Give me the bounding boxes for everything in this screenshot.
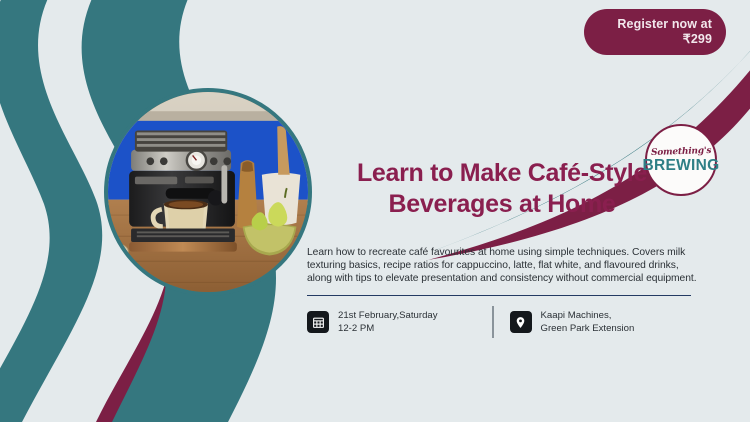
logo-wordmark: BREWING — [643, 158, 720, 174]
date-info-block: 21st February,Saturday 12-2 PM — [307, 309, 492, 336]
date-text: 21st February,Saturday 12-2 PM — [338, 309, 438, 336]
venue-line-2: Green Park Extension — [541, 322, 635, 336]
teal-ribbon-outer — [0, 0, 102, 422]
map-pin-icon — [510, 311, 532, 333]
date-line-1: 21st February,Saturday — [338, 309, 438, 323]
info-separator — [492, 306, 494, 338]
brand-logo: Something's BREWING — [645, 124, 717, 196]
workshop-description: Learn how to recreate café favourites at… — [307, 246, 697, 286]
register-price: ₹299 — [683, 32, 712, 47]
venue-line-1: Kaapi Machines, — [541, 309, 635, 323]
divider — [307, 295, 691, 297]
workshop-photo — [104, 88, 312, 296]
promo-banner: Register now at ₹299 Something's BREWING… — [0, 0, 750, 422]
title-line-1: Learn to Make Café-Style — [357, 159, 647, 187]
calendar-icon — [307, 311, 329, 333]
content-column: Learn to Make Café-Style Beverages at Ho… — [307, 158, 697, 338]
register-line-1: Register now at — [617, 17, 712, 32]
title-line-2: Beverages at Home — [389, 190, 616, 218]
logo-script-text: Something's — [651, 145, 712, 157]
info-row: 21st February,Saturday 12-2 PM Kaapi Mac… — [307, 306, 697, 338]
venue-info-block: Kaapi Machines, Green Park Extension — [510, 309, 635, 336]
page-title: Learn to Make Café-Style Beverages at Ho… — [307, 158, 697, 220]
date-line-2: 12-2 PM — [338, 322, 438, 336]
register-now-button[interactable]: Register now at ₹299 — [584, 9, 726, 55]
espresso-machine-photo — [108, 92, 308, 292]
venue-text: Kaapi Machines, Green Park Extension — [541, 309, 635, 336]
